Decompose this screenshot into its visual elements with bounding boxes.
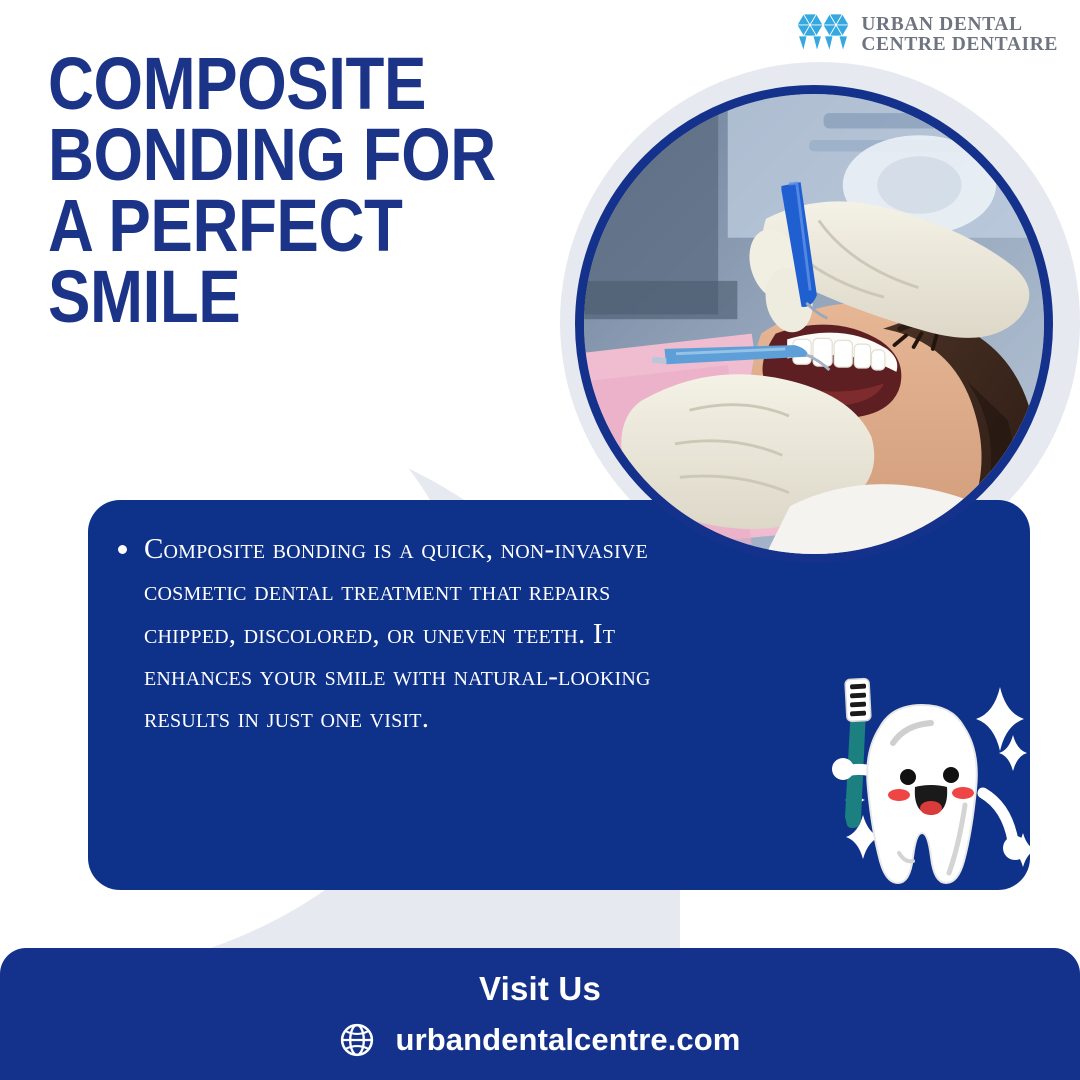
happy-tooth-mascot: [795, 665, 1045, 900]
headline-line-4: SMILE: [48, 261, 495, 332]
molar-teeth-logo-icon: [795, 12, 851, 58]
footer-title: Visit Us: [479, 970, 601, 1008]
footer-bar: Visit Us urbandentalcentre.com: [0, 948, 1080, 1080]
mascot-eye-left: [900, 769, 916, 785]
mascot-tongue: [920, 801, 942, 815]
description-text: Composite bonding is a quick, non-invasi…: [144, 533, 651, 734]
description-list: Composite bonding is a quick, non-invasi…: [110, 528, 680, 740]
brand-name-line2: CENTRE DENTAIRE: [861, 35, 1058, 55]
globe-icon: [340, 1023, 374, 1057]
happy-tooth-with-toothbrush-icon: [795, 665, 1045, 900]
headline: COMPOSITE BONDING FOR A PERFECT SMILE: [48, 48, 568, 332]
brand-logo: URBAN DENTAL CENTRE DENTAIRE: [795, 12, 1058, 58]
poster-canvas: URBAN DENTAL CENTRE DENTAIRE COMPOSITE B…: [0, 0, 1080, 1080]
website-url[interactable]: urbandentalcentre.com: [396, 1022, 741, 1058]
dentist-treating-patient-image: [584, 94, 1044, 554]
footer-website-row[interactable]: urbandentalcentre.com: [340, 1022, 741, 1058]
brand-name-line1: URBAN DENTAL: [861, 15, 1058, 35]
mascot-cheek-right: [952, 787, 974, 799]
headline-line-1: COMPOSITE: [48, 48, 495, 119]
mascot-eye-right: [943, 767, 959, 783]
headline-line-3: A PERFECT: [48, 190, 495, 261]
dentist-photo: [575, 85, 1053, 563]
brand-name: URBAN DENTAL CENTRE DENTAIRE: [861, 15, 1058, 55]
mascot-cheek-left: [888, 789, 910, 801]
list-item: Composite bonding is a quick, non-invasi…: [110, 528, 680, 740]
headline-line-2: BONDING FOR: [48, 119, 495, 190]
